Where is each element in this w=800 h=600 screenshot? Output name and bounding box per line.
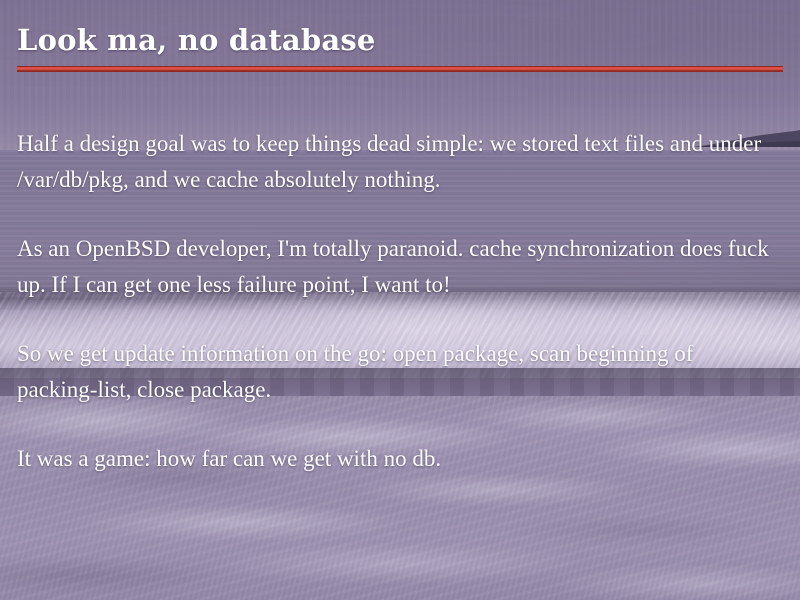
slide-body: Half a design goal was to keep things de…	[17, 126, 777, 477]
body-paragraph: It was a game: how far can we get with n…	[17, 441, 777, 477]
slide-title: Look ma, no database	[17, 23, 376, 57]
body-paragraph: Half a design goal was to keep things de…	[17, 126, 777, 198]
title-underline-rule	[17, 66, 783, 72]
presentation-slide: Look ma, no database Half a design goal …	[0, 0, 800, 600]
body-paragraph: So we get update information on the go: …	[17, 336, 777, 408]
slide-content: Look ma, no database Half a design goal …	[0, 0, 800, 600]
body-paragraph: As an OpenBSD developer, I'm totally par…	[17, 231, 777, 303]
